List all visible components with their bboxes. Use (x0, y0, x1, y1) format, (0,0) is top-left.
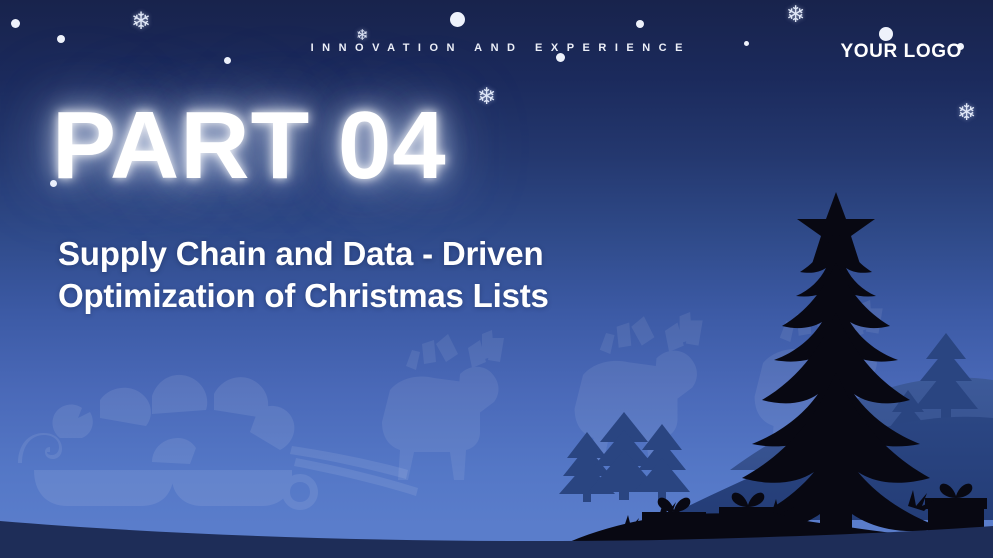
snowflake-top-left-icon: ❄ (131, 10, 151, 34)
snowflake-title-icon: ❄ (477, 85, 496, 108)
subtitle-line-1: Supply Chain and Data - Driven (58, 233, 698, 275)
snowflake-kicker-icon: ❄ (356, 28, 369, 43)
presentation-slide: ❄❄❄❄❄ INNOVATION AND EXPERIENCE YOUR LOG… (0, 0, 993, 558)
slide-subtitle: Supply Chain and Data - Driven Optimizat… (58, 233, 698, 317)
star-dot-8 (879, 27, 893, 41)
sleigh-silhouette (18, 375, 418, 510)
star-dot-1 (11, 19, 20, 28)
star-dot-4 (450, 12, 465, 27)
snowflake-right-lower-icon: ❄ (957, 101, 976, 124)
logo-placeholder: YOUR LOGO (840, 41, 962, 63)
snowflake-top-right-icon: ❄ (786, 3, 805, 26)
subtitle-line-2: Optimization of Christmas Lists (58, 275, 698, 317)
star-dot-6 (636, 20, 644, 28)
star-dot-5 (556, 53, 565, 62)
star-dot-3 (224, 57, 231, 64)
part-number-heading: PART 04 (52, 97, 447, 195)
